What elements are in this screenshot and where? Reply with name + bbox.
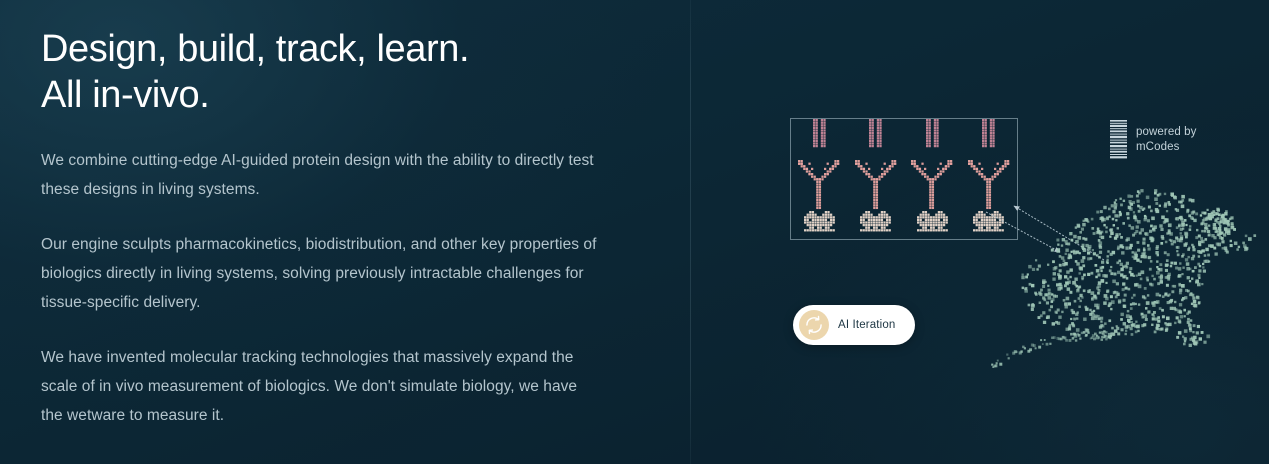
- grid-cell-barcode-bars: [961, 119, 1018, 159]
- antibody-design-panel: [790, 118, 1018, 240]
- mcodes-label: powered by mCodes: [1136, 125, 1196, 155]
- antibody-grid: [791, 119, 1017, 239]
- grid-cell-cell-cluster: [791, 211, 848, 241]
- grid-cell-antibody-y: [848, 159, 905, 211]
- grid-cell-antibody-y: [791, 159, 848, 211]
- paragraph-3: We have invented molecular tracking tech…: [41, 343, 601, 430]
- grid-cell-barcode-bars: [791, 119, 848, 159]
- powered-by-mcodes: powered by mCodes: [1110, 120, 1196, 160]
- grid-cell-barcode-bars: [848, 119, 905, 159]
- grid-cell-antibody-y: [904, 159, 961, 211]
- ai-iteration-button[interactable]: AI Iteration: [793, 305, 915, 345]
- paragraph-2: Our engine sculpts pharmacokinetics, bio…: [41, 230, 601, 317]
- hero-section: Design, build, track, learn. All in-vivo…: [0, 0, 1269, 464]
- refresh-cycle-icon: [799, 310, 829, 340]
- grid-cell-cell-cluster: [848, 211, 905, 241]
- barcode-icon: [1110, 120, 1127, 160]
- body-copy: We combine cutting-edge AI-guided protei…: [41, 146, 641, 430]
- mouse-point-cloud: [990, 178, 1266, 368]
- ai-iteration-label: AI Iteration: [838, 319, 895, 331]
- page-title: Design, build, track, learn. All in-vivo…: [41, 26, 641, 118]
- grid-cell-cell-cluster: [904, 211, 961, 241]
- paragraph-1: We combine cutting-edge AI-guided protei…: [41, 146, 601, 204]
- grid-cell-barcode-bars: [904, 119, 961, 159]
- left-content-column: Design, build, track, learn. All in-vivo…: [41, 26, 641, 430]
- right-graphic-column: powered by mCodes AI Iteration: [690, 0, 1269, 464]
